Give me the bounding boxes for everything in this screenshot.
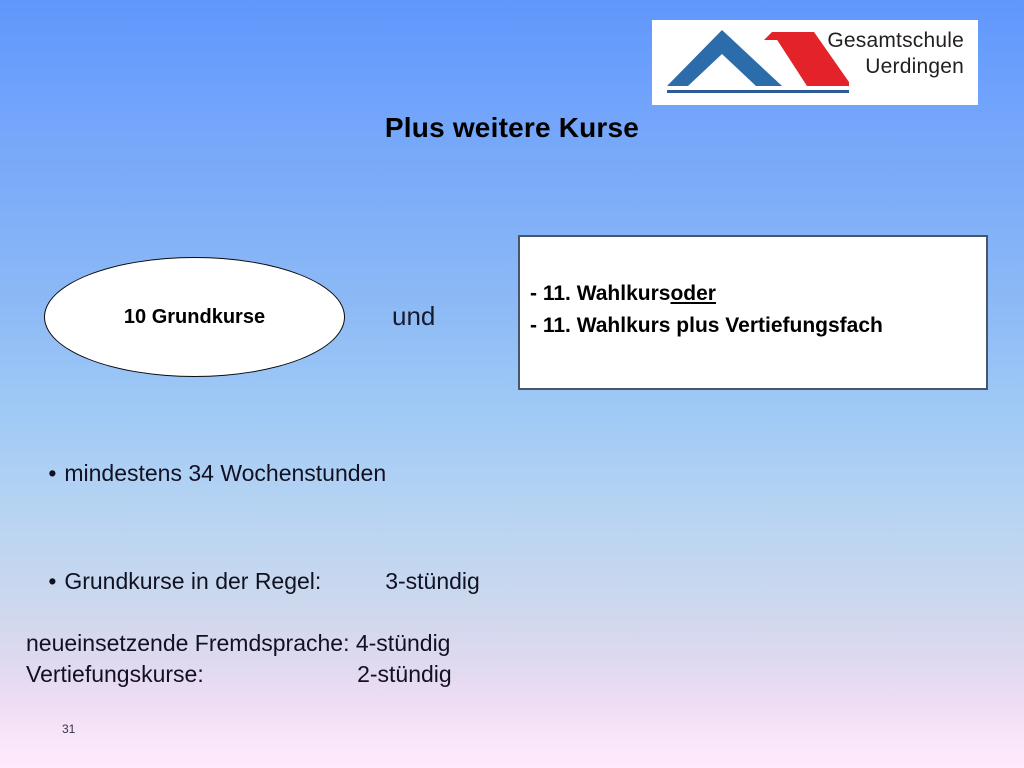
school-logo-line-2: Uerdingen	[784, 54, 964, 80]
grundkurse-ellipse-label: 10 Grundkurse	[124, 306, 265, 329]
school-logo: Gesamtschule Uerdingen	[652, 20, 978, 105]
list-item-label: mindestens 34 Wochenstunden	[64, 460, 386, 486]
option-text: 11. Wahlkurs	[543, 278, 671, 310]
list-item: •mindestens 34 Wochenstunden	[10, 427, 570, 520]
slide-canvas: Gesamtschule Uerdingen Plus weitere Kurs…	[0, 0, 1024, 768]
wahlkurs-options-list: - 11. Wahlkurs oder - 11. Wahlkurs plus …	[530, 278, 982, 342]
page-number: 31	[62, 722, 75, 736]
school-logo-line-1: Gesamtschule	[784, 28, 964, 54]
list-item-subline: Vertiefungskurse: 2-stündig	[10, 659, 570, 690]
option-row: - 11. Wahlkurs oder	[530, 278, 982, 310]
school-logo-text: Gesamtschule Uerdingen	[784, 28, 964, 80]
bullet-dot-icon: •	[48, 458, 64, 489]
slide-title: Plus weitere Kurse	[0, 112, 1024, 144]
conjunction-label: und	[392, 301, 435, 332]
notes-bullet-list: •mindestens 34 Wochenstunden •Grundkurse…	[10, 427, 570, 690]
wahlkurs-options-box: - 11. Wahlkurs oder - 11. Wahlkurs plus …	[518, 235, 988, 390]
list-item: •Grundkurse in der Regel: 3-stündig	[10, 535, 570, 628]
option-dash: -	[530, 278, 537, 310]
bullet-dot-icon: •	[48, 566, 64, 597]
grundkurse-ellipse: 10 Grundkurse	[44, 257, 345, 377]
list-item-label: Grundkurse in der Regel: 3-stündig	[64, 568, 479, 594]
option-dash: -	[530, 310, 537, 342]
option-row: - 11. Wahlkurs plus Vertiefungsfach	[530, 310, 982, 342]
option-text: 11. Wahlkurs plus Vertiefungsfach	[543, 310, 883, 342]
list-item-subline: neueinsetzende Fremdsprache: 4-stündig	[10, 628, 570, 659]
option-text-emphasis: oder	[670, 282, 716, 305]
